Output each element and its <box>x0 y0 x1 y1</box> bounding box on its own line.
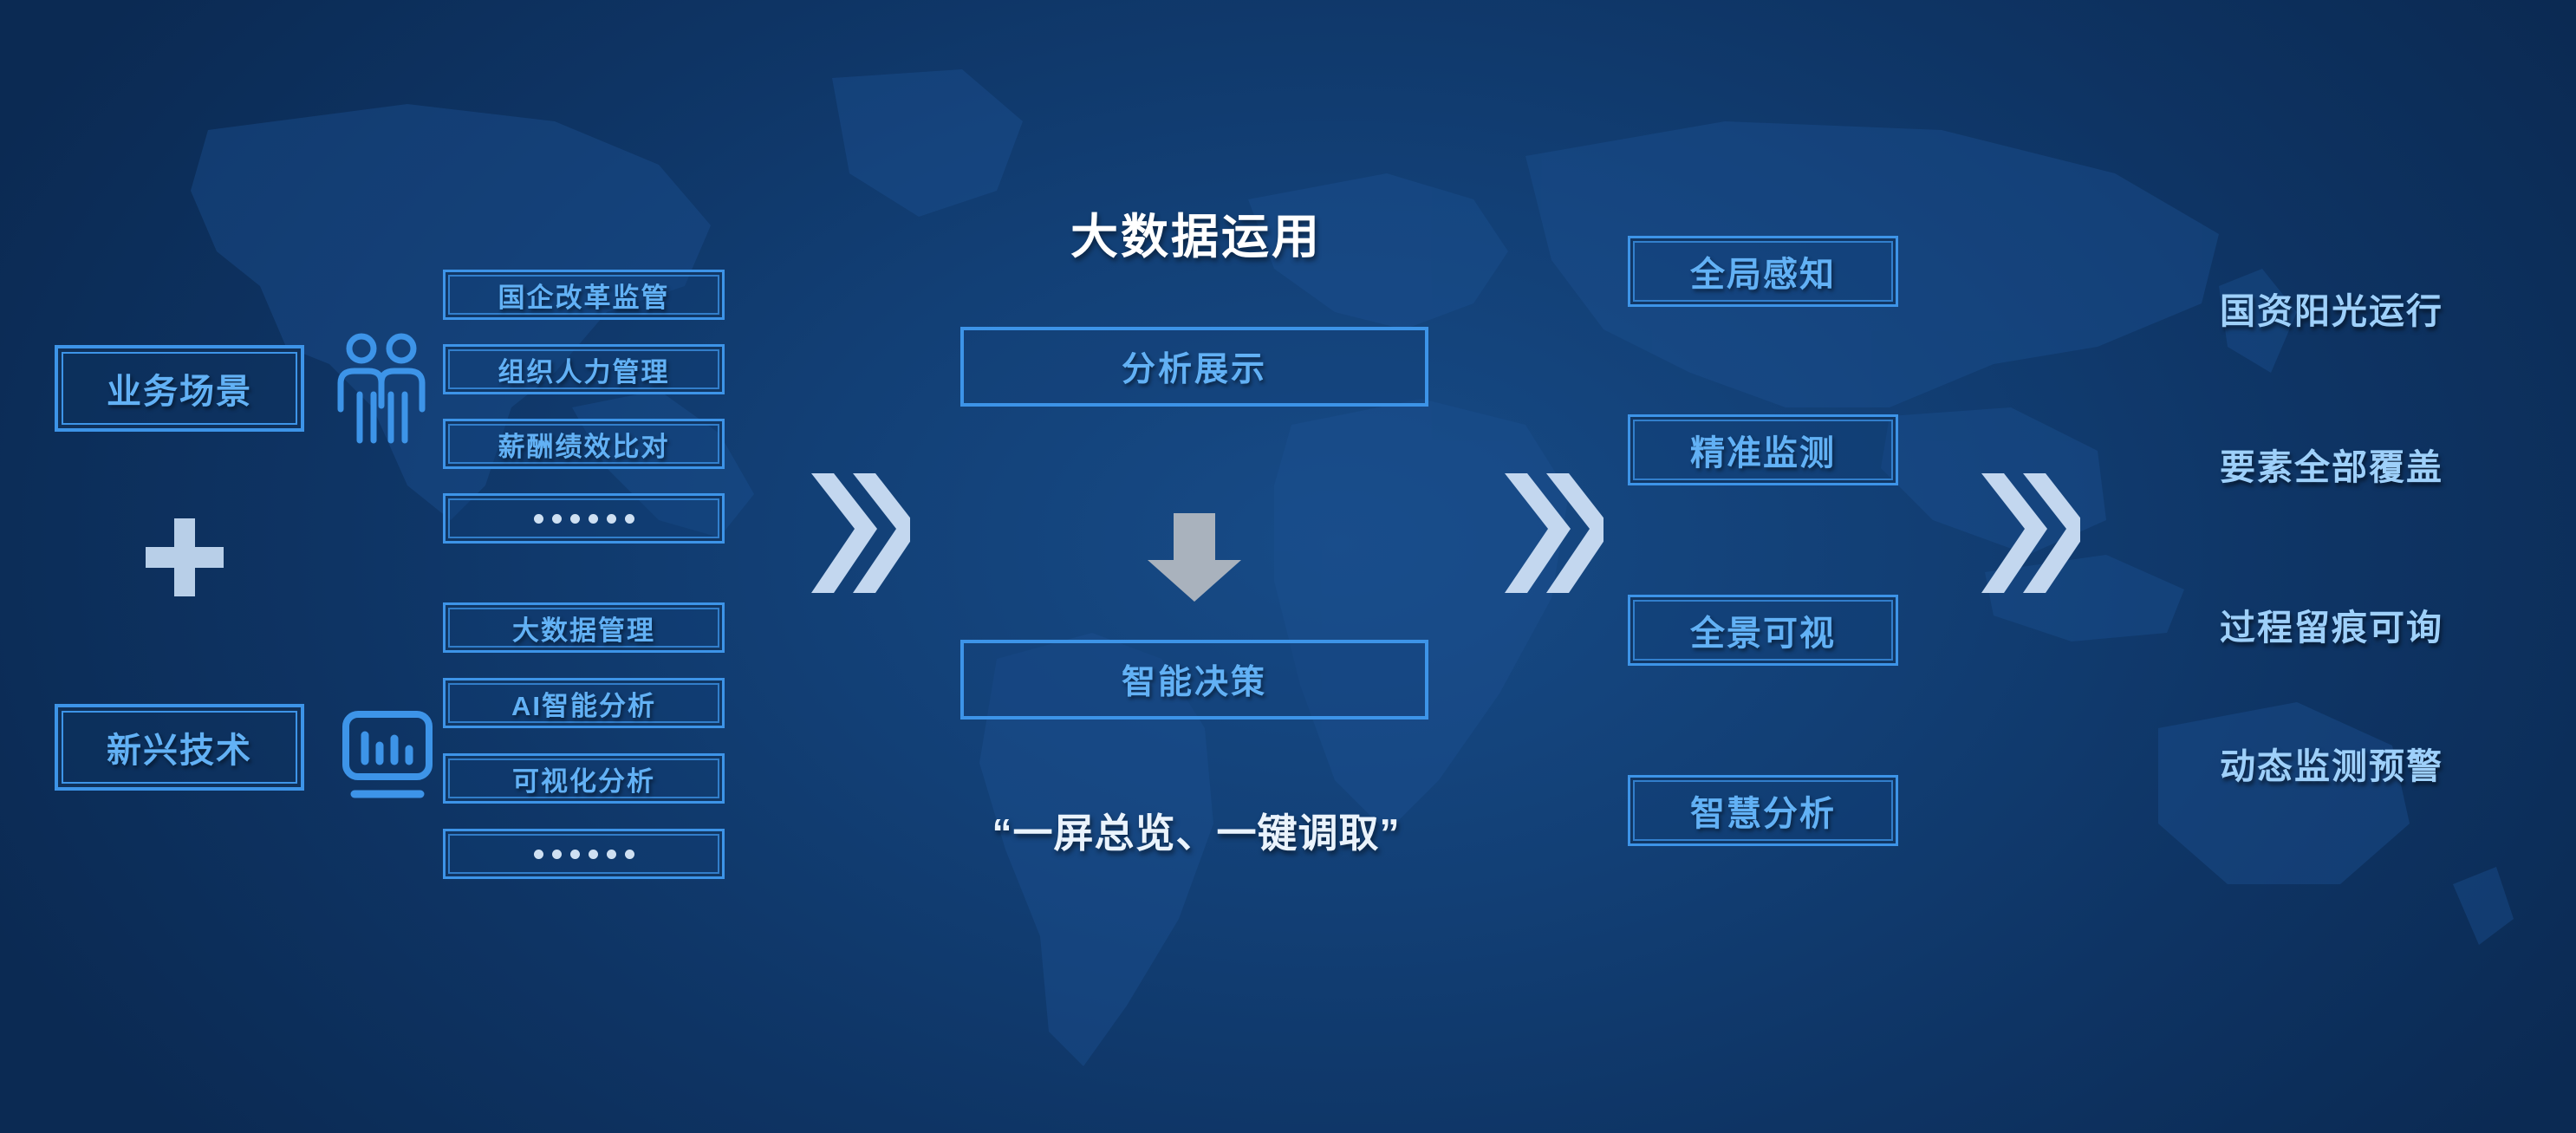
technology-item-0[interactable]: 大数据管理 <box>443 602 725 653</box>
chevron-2-icon <box>1499 468 1603 598</box>
capability-box-0[interactable]: 全局感知 <box>1628 236 1898 307</box>
outcome-label-0: 国资阳光运行 <box>2184 282 2479 334</box>
scenario-item-0-label: 国企改革监管 <box>498 276 670 315</box>
people-icon <box>334 329 429 446</box>
center-box-intelligent-decision-label: 智能决策 <box>1122 655 1267 704</box>
capability-box-3[interactable]: 智慧分析 <box>1628 775 1898 846</box>
center-box-intelligent-decision[interactable]: 智能决策 <box>960 640 1428 720</box>
capability-box-1[interactable]: 精准监测 <box>1628 414 1898 485</box>
down-arrow-icon <box>1144 510 1245 605</box>
anchor-box-business-scenario[interactable]: 业务场景 <box>55 345 304 432</box>
scenario-item-1-label: 组织人力管理 <box>498 350 670 389</box>
scenario-item-2[interactable]: 薪酬绩效比对 <box>443 419 725 469</box>
center-box-analysis-display-label: 分析展示 <box>1122 342 1267 391</box>
center-box-analysis-display[interactable]: 分析展示 <box>960 327 1428 407</box>
infographic-slide: 业务场景 新兴技术 <box>0 0 2576 1133</box>
center-title: 大数据运用 <box>953 198 1439 267</box>
technology-item-2[interactable]: 可视化分析 <box>443 753 725 804</box>
technology-item-0-label: 大数据管理 <box>512 609 655 648</box>
technology-item-3[interactable] <box>443 829 725 879</box>
chart-monitor-icon <box>341 709 434 806</box>
ellipsis-dots <box>534 514 634 524</box>
technology-item-1-label: AI智能分析 <box>511 684 656 723</box>
outcome-label-2: 过程留痕可询 <box>2184 598 2479 650</box>
scenario-item-1[interactable]: 组织人力管理 <box>443 344 725 394</box>
capability-box-3-label: 智慧分析 <box>1690 785 1836 836</box>
plus-icon <box>146 518 224 596</box>
chevron-1-icon <box>806 468 910 598</box>
chevron-3-icon <box>1976 468 2080 598</box>
outcome-label-3: 动态监测预警 <box>2184 737 2479 789</box>
center-slogan: “一屏总览、一键调取” <box>910 802 1482 859</box>
technology-item-1[interactable]: AI智能分析 <box>443 678 725 728</box>
capability-box-2[interactable]: 全景可视 <box>1628 595 1898 666</box>
outcome-label-1: 要素全部覆盖 <box>2184 438 2479 490</box>
capability-box-2-label: 全景可视 <box>1690 605 1836 655</box>
capability-box-0-label: 全局感知 <box>1690 246 1836 296</box>
scenario-item-3[interactable] <box>443 493 725 544</box>
anchor-box-business-scenario-label: 业务场景 <box>107 363 252 413</box>
anchor-box-emerging-technology-label: 新兴技术 <box>107 722 252 772</box>
scenario-item-2-label: 薪酬绩效比对 <box>498 425 670 464</box>
capability-box-1-label: 精准监测 <box>1690 425 1836 475</box>
technology-item-2-label: 可视化分析 <box>512 759 655 798</box>
scenario-item-0[interactable]: 国企改革监管 <box>443 270 725 320</box>
world-map-background <box>0 0 2576 1133</box>
anchor-box-emerging-technology[interactable]: 新兴技术 <box>55 704 304 791</box>
ellipsis-dots <box>534 850 634 859</box>
